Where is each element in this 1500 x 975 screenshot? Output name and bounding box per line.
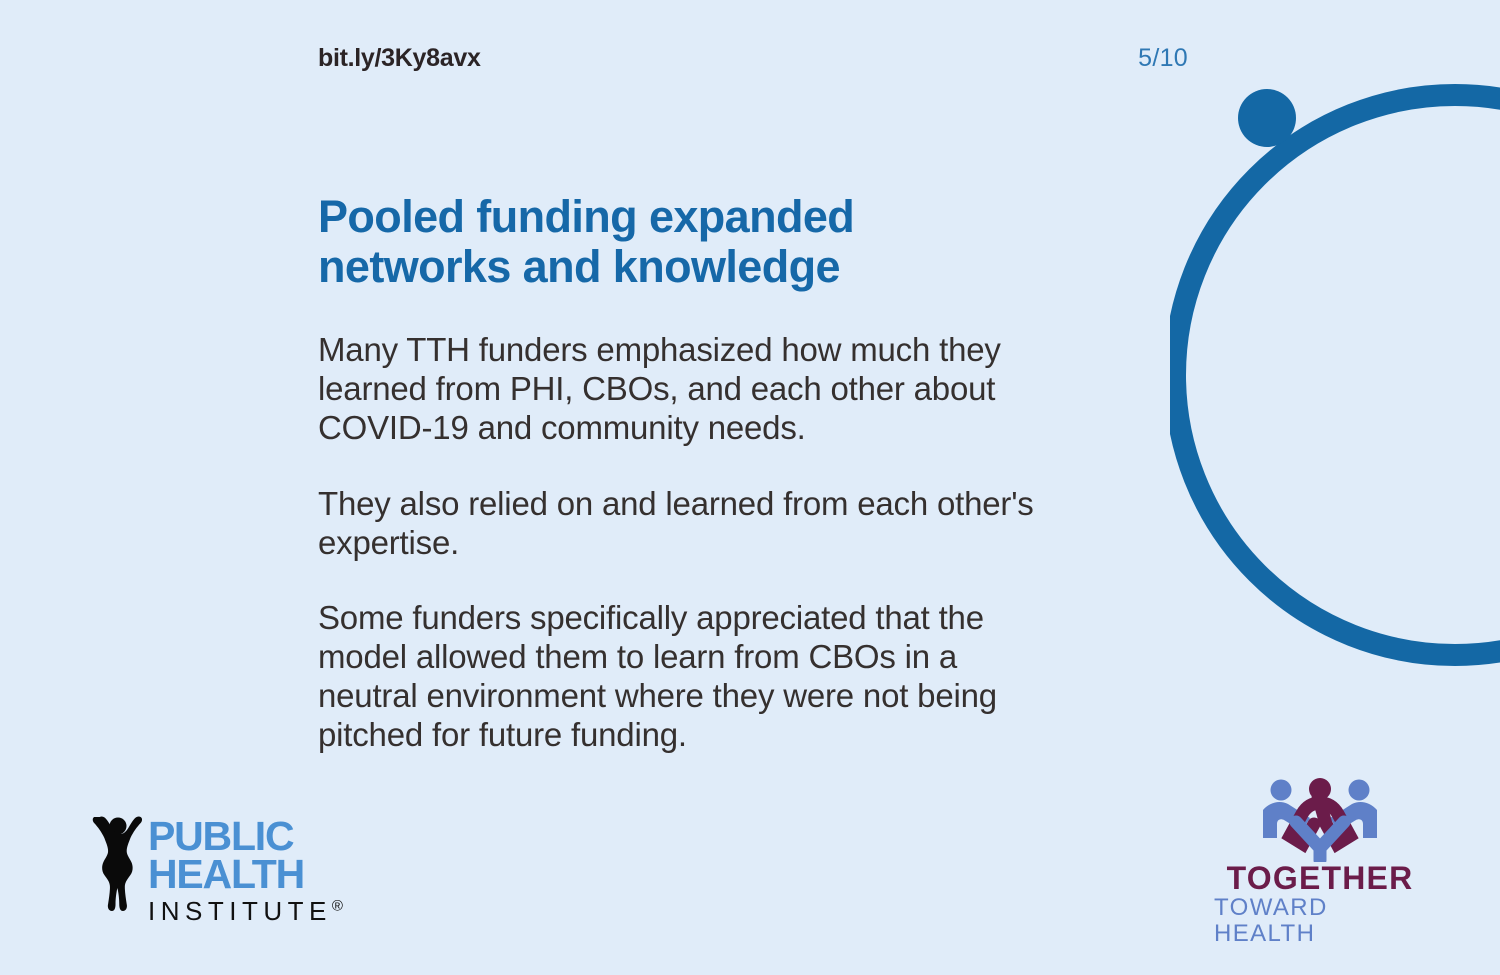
slide-content: Pooled funding expanded networks and kno… (318, 192, 1038, 755)
phi-wordmark: PUBLIC HEALTH INSTITUTE® (148, 812, 343, 928)
together-toward-health-logo: TOGETHER TOWARD HEALTH (1214, 778, 1426, 947)
body-paragraph-1: Many TTH funders emphasized how much the… (318, 331, 1038, 448)
arc-ring (1175, 95, 1500, 655)
body-paragraph-2: They also relied on and learned from eac… (318, 485, 1038, 563)
page-number: 5/10 (1138, 44, 1188, 73)
phi-word-health: HEALTH (148, 856, 343, 894)
short-link-text[interactable]: bit.ly/3Ky8avx (318, 44, 481, 73)
registered-trademark-icon: ® (332, 898, 343, 915)
arc-node-dot (1238, 89, 1296, 147)
body-paragraph-3: Some funders specifically appreciated th… (318, 599, 1038, 755)
slide-canvas: bit.ly/3Ky8avx 5/10 Pooled funding expan… (0, 0, 1500, 975)
circle-arc-decoration (1170, 0, 1500, 790)
phi-word-institute: INSTITUTE® (148, 893, 343, 927)
phi-institute-text: INSTITUTE (148, 896, 332, 926)
three-people-figures-icon (1250, 778, 1390, 862)
slide-header: bit.ly/3Ky8avx 5/10 (318, 44, 1188, 73)
public-health-institute-logo: PUBLIC HEALTH INSTITUTE® (92, 812, 343, 928)
page-title: Pooled funding expanded networks and kno… (318, 192, 1038, 293)
raised-arms-figure-icon (92, 812, 144, 912)
tth-word-toward-health: TOWARD HEALTH (1214, 895, 1426, 948)
tth-word-together: TOGETHER (1227, 862, 1414, 895)
